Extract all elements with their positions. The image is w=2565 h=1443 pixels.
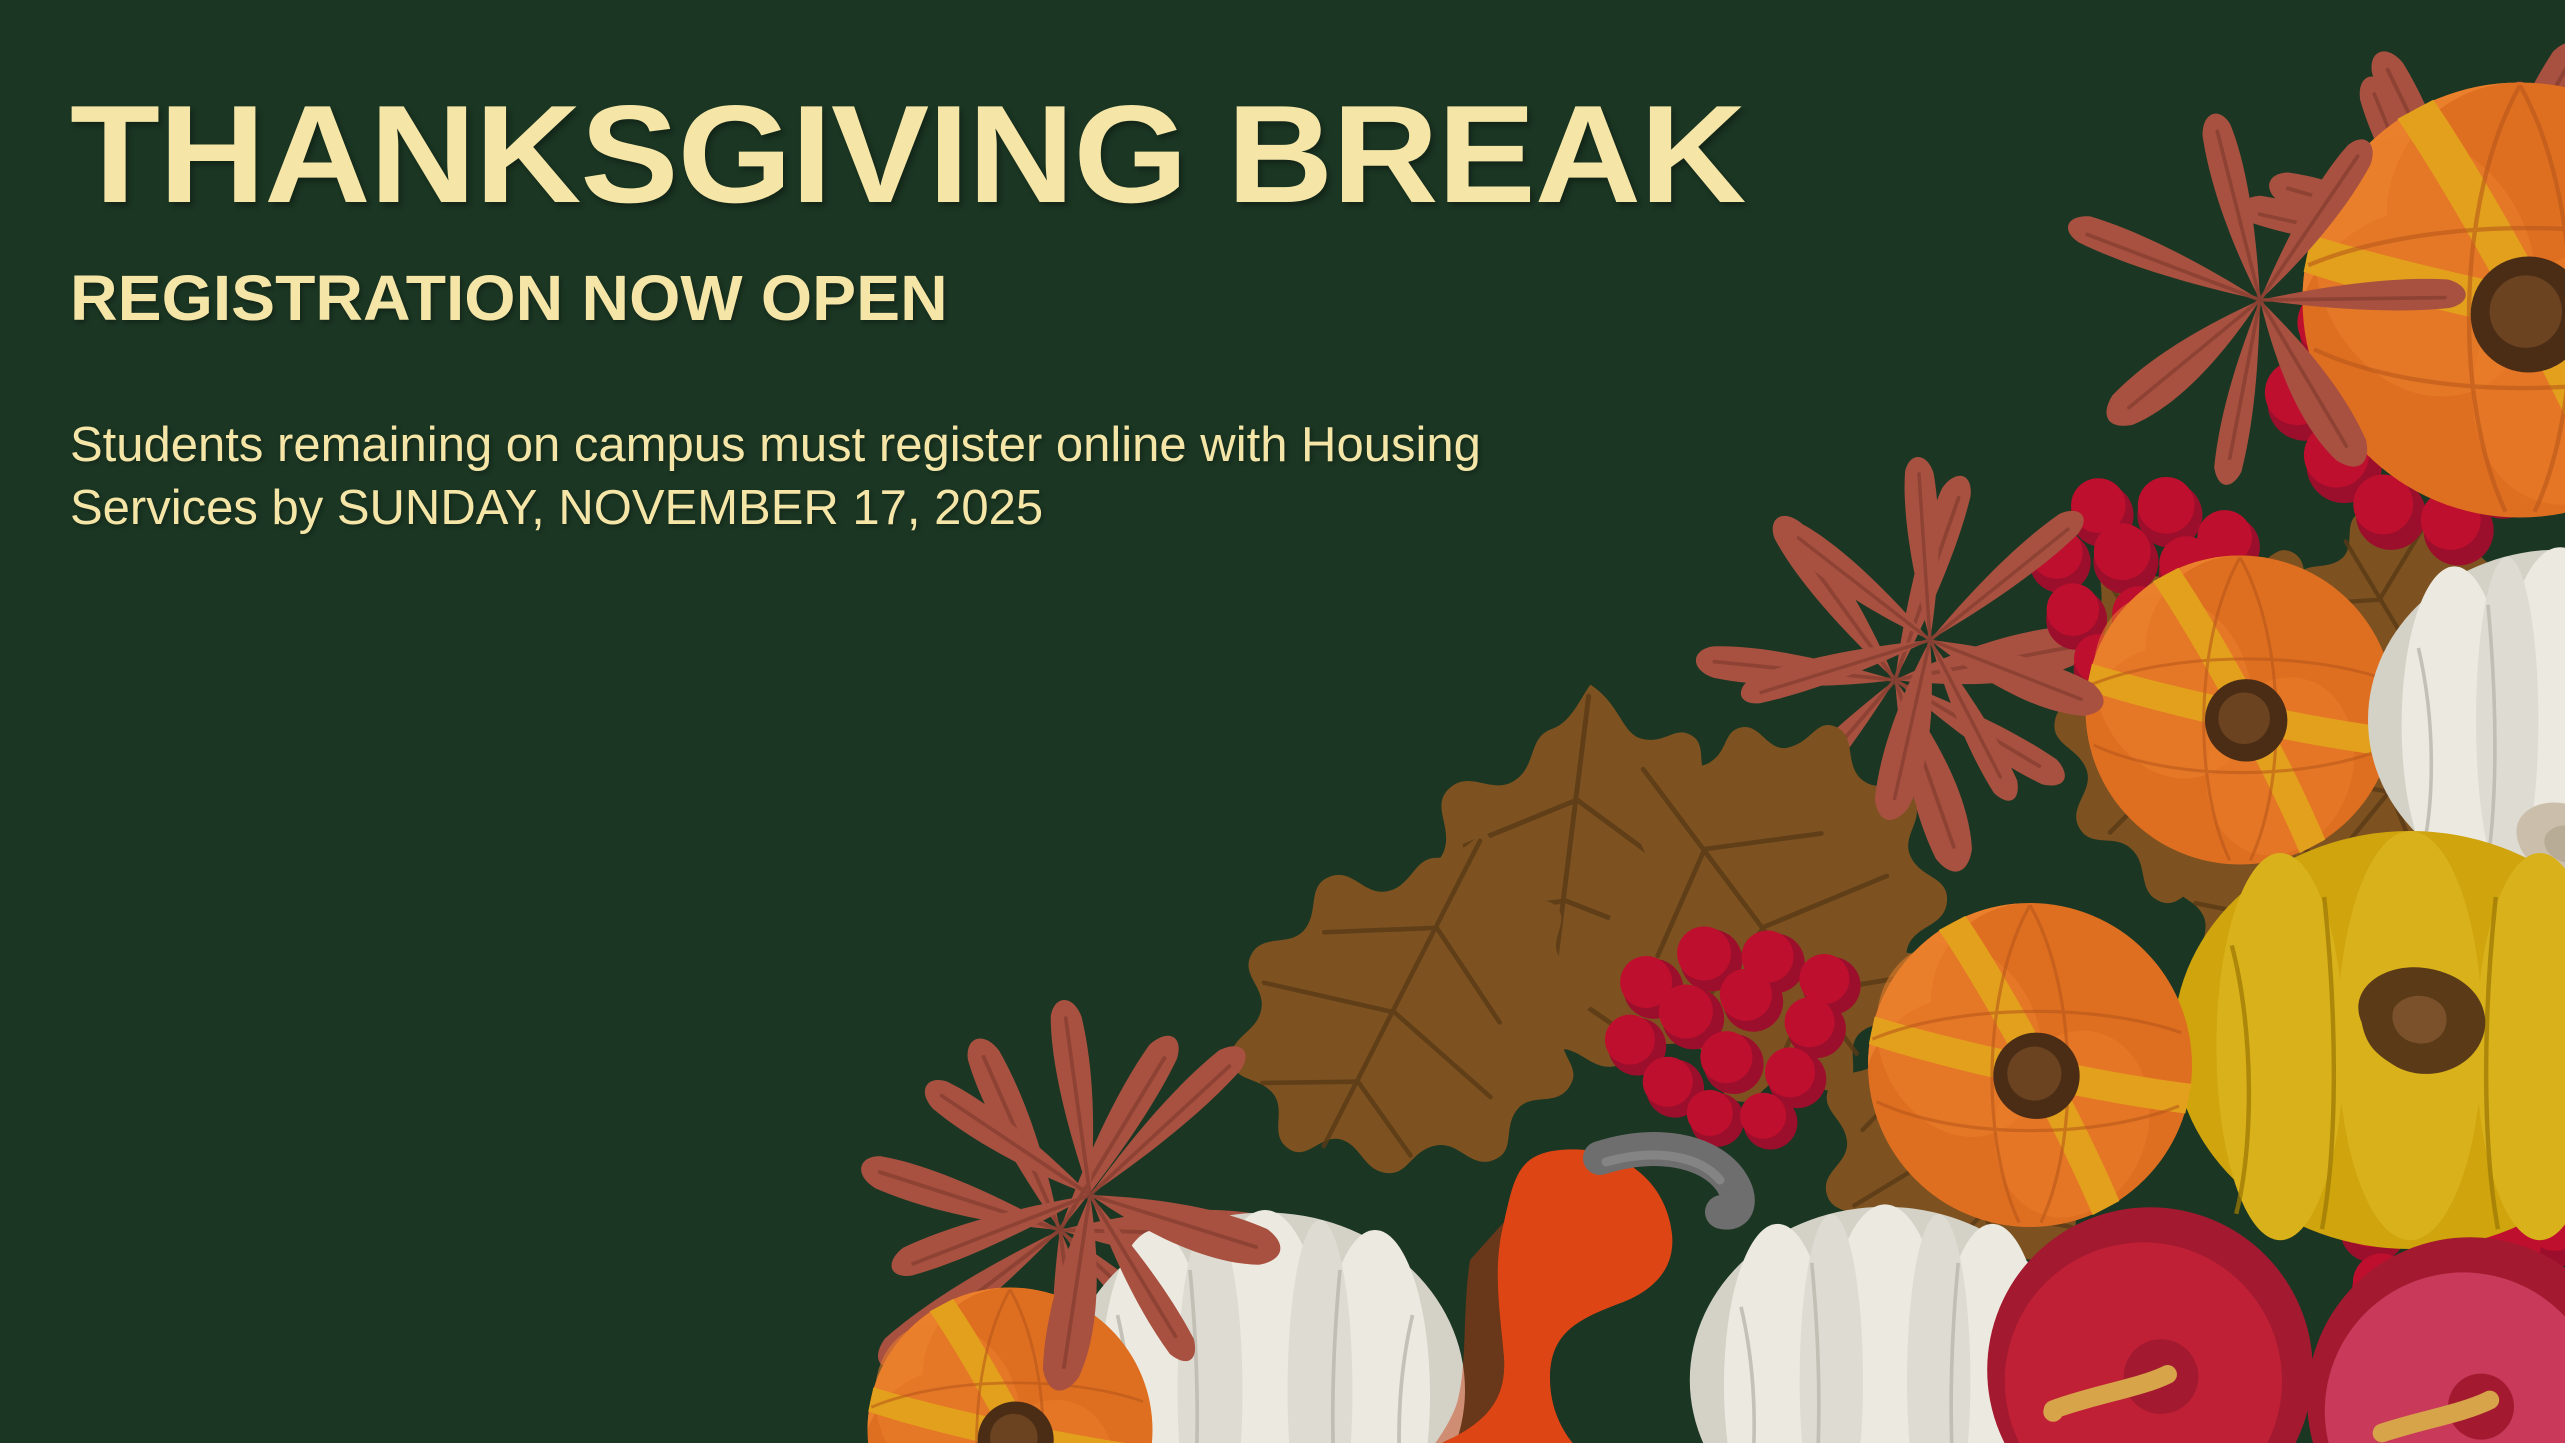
- banner-text-block: THANKSGIVING BREAK REGISTRATION NOW OPEN…: [70, 85, 1470, 539]
- body-copy-line-1: Students remaining on campus must regist…: [70, 414, 1170, 477]
- body-copy: Students remaining on campus must regist…: [70, 414, 1170, 539]
- subtitle: REGISTRATION NOW OPEN: [70, 266, 1512, 330]
- body-copy-line-2: Services by SUNDAY, NOVEMBER 17, 2025: [70, 477, 1170, 540]
- thanksgiving-break-banner: THANKSGIVING BREAK REGISTRATION NOW OPEN…: [0, 0, 2565, 1443]
- page-title: THANKSGIVING BREAK: [70, 85, 1554, 224]
